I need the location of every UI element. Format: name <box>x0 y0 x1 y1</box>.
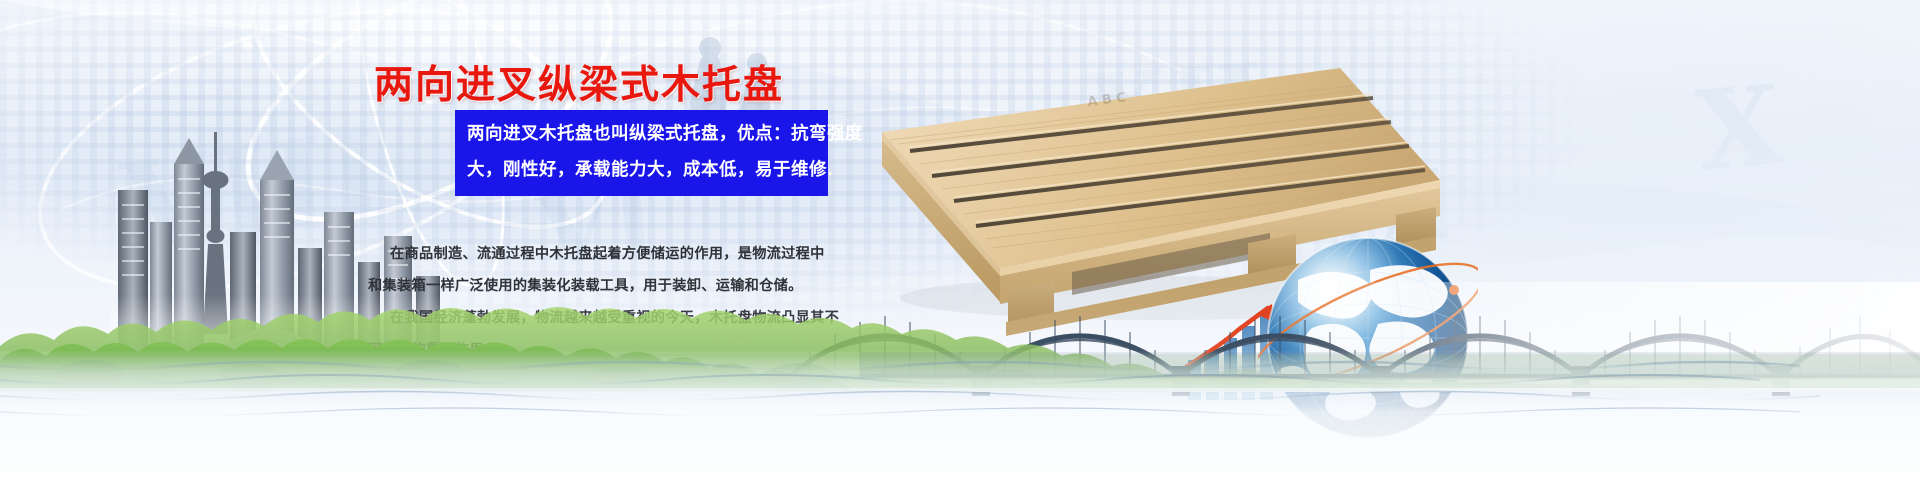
highlight-callout-box: 两向进叉木托盘也叫纵梁式托盘，优点：抗弯强度 大，刚性好，承载能力大，成本低，易… <box>455 110 828 196</box>
page-title: 两向进叉纵梁式木托盘 <box>374 54 784 110</box>
product-banner: VIII VII VI XII IX X <box>0 0 1920 500</box>
body-line-1: 在商品制造、流通过程中木托盘起着方便储运的作用，是物流过程中 <box>368 238 848 270</box>
water-ripples <box>0 350 1920 500</box>
highlight-line-1: 两向进叉木托盘也叫纵梁式托盘，优点：抗弯强度 <box>467 116 818 152</box>
highlight-line-2: 大，刚性好，承载能力大，成本低，易于维修. <box>467 152 818 188</box>
